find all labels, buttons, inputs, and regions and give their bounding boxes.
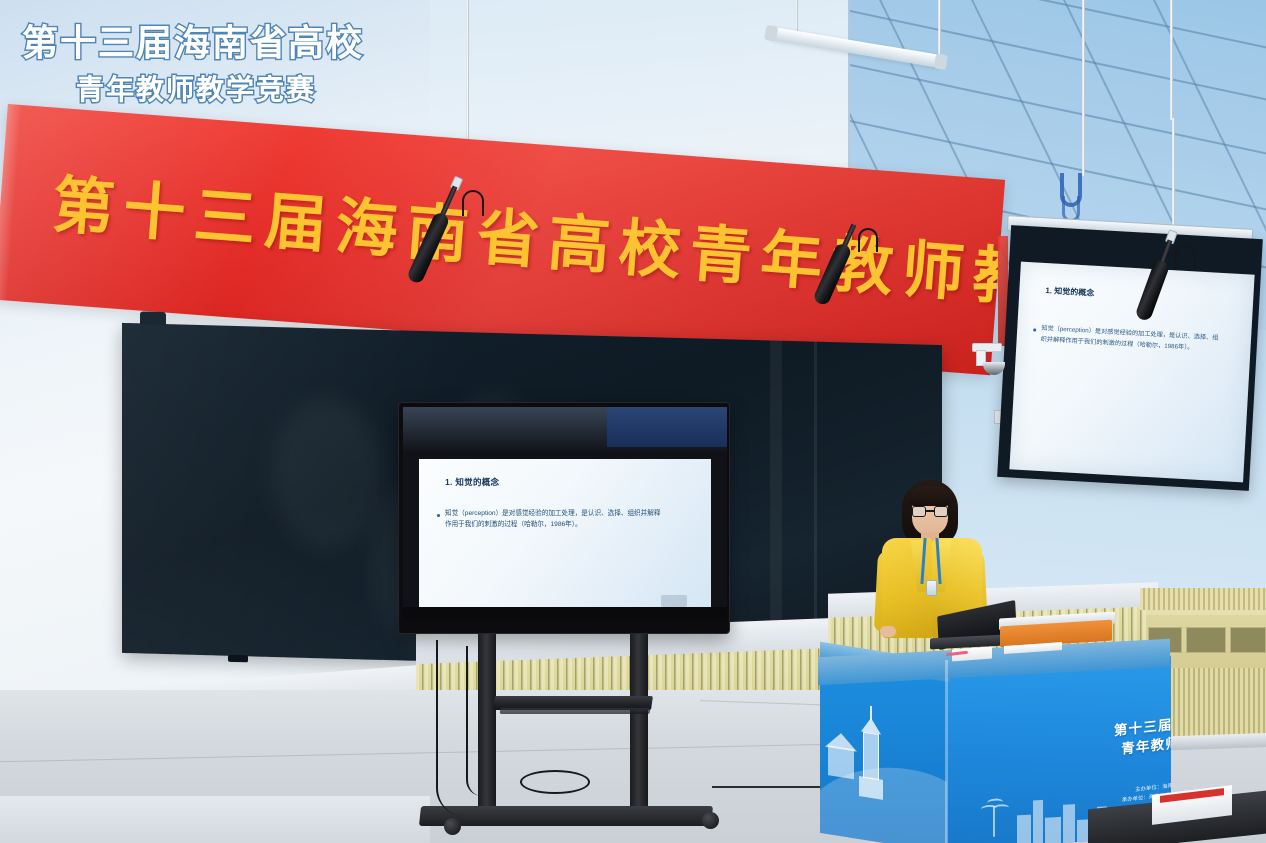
- tv-cart-wheel-right: [702, 812, 719, 829]
- slide-bullet-dot-projected: [1033, 328, 1036, 331]
- tv-power-cable: [436, 640, 464, 816]
- slide-title: 1. 知觉的概念: [445, 476, 499, 488]
- id-badge: [926, 580, 937, 596]
- lectern-corner-edge: [945, 660, 948, 843]
- mic-cable-right: [858, 228, 878, 252]
- tv-display: 1. 知觉的概念 知觉（perception）是对感觉经验的加工处理，是认识、选…: [398, 402, 730, 634]
- ceiling-rod-far-right: [1170, 0, 1173, 120]
- tv-logo: [661, 595, 687, 607]
- slide-bullet-dot: [437, 514, 440, 517]
- photo-scene: 第十三届海南省高校青年教师教学竞赛: [0, 0, 1266, 843]
- shelf-cubby: [1230, 627, 1266, 653]
- shelf-cubby: [1186, 627, 1226, 653]
- ceiling-rod-mic-right: [1082, 0, 1085, 176]
- cable-coil: [520, 770, 590, 794]
- ceiling-rod-mic-center: [1172, 118, 1175, 240]
- presenter-fringe: [909, 486, 951, 506]
- clock-tower-graphic: [856, 704, 886, 801]
- slide-on-tv: 1. 知觉的概念 知觉（perception）是对感觉经验的加工处理，是认识、选…: [419, 459, 711, 614]
- shelf-top-rail: [1140, 588, 1266, 610]
- projection-screen: 1. 知觉的概念 知觉（perception）是对感觉经验的加工处理，是认识、选…: [1009, 262, 1254, 483]
- blackboard-tab: [140, 311, 166, 325]
- tv-reflection-blue: [607, 407, 727, 447]
- slide-bullet-text-projected: 知觉（perception）是对感觉经验的加工处理，是认识、选择、组织并解释作用…: [1040, 323, 1221, 355]
- floor-cable: [712, 786, 832, 788]
- mic-cable-left: [462, 190, 484, 216]
- tv-cart-wheel-left: [444, 818, 461, 835]
- slide-bullet-text: 知觉（perception）是对感觉经验的加工处理，是认识、选择、组织并解释作用…: [445, 508, 665, 530]
- blackboard-clip-left: [228, 655, 248, 663]
- tv-cart-column-right: [630, 634, 648, 812]
- shelf-back-slats: [1160, 668, 1266, 740]
- tv-signal-cable: [466, 646, 482, 796]
- tv-cart-shelf-lip: [500, 708, 651, 714]
- floor-left: [0, 796, 430, 843]
- lectern-title: 第十三届海南省高校 青年教师教学竞赛: [1085, 705, 1171, 764]
- tv-bottom-bar: [403, 607, 727, 621]
- slide-title-projected: 1. 知觉的概念: [1045, 285, 1094, 299]
- tv-screen: 1. 知觉的概念 知觉（perception）是对感觉经验的加工处理，是认识、选…: [403, 407, 727, 621]
- mic-cable-projector-side: [1174, 244, 1196, 270]
- lectern-house-graphic: [828, 745, 854, 779]
- glasses-icon: [912, 506, 948, 517]
